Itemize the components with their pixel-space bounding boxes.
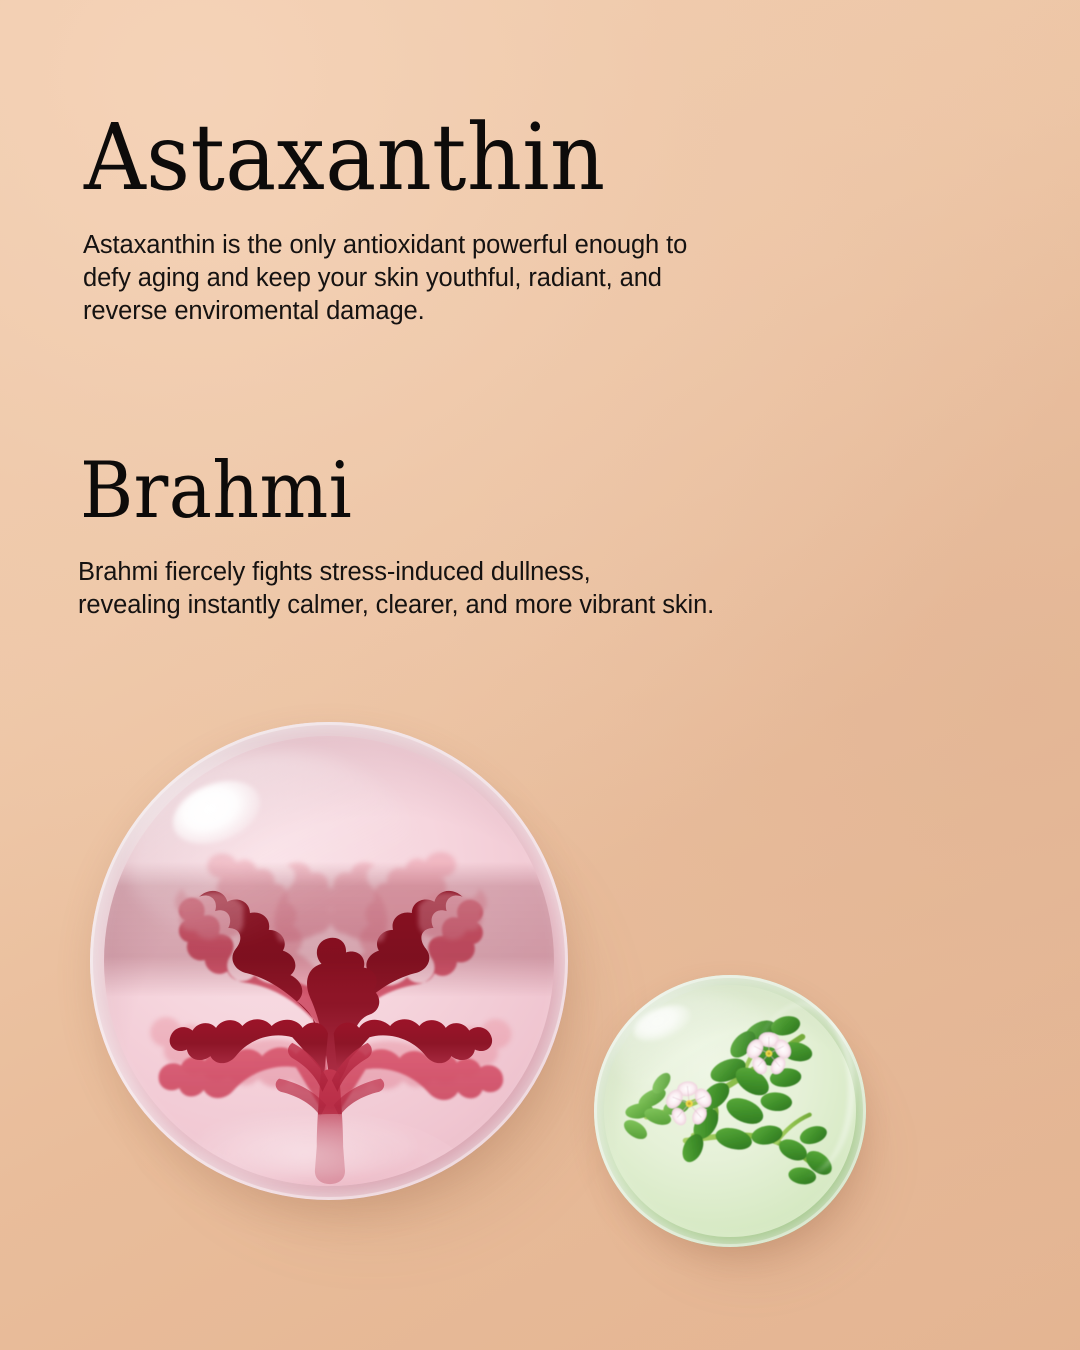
brahmi-sphere-interior <box>604 985 856 1237</box>
astaxanthin-sphere-interior <box>104 736 554 1186</box>
brahmi-plant-illustration <box>604 985 856 1237</box>
page-title-brahmi: Brahmi <box>80 452 352 530</box>
submersion-band <box>104 862 554 997</box>
description-brahmi: Brahmi fiercely fights stress-induced du… <box>78 556 978 622</box>
description-astaxanthin: Astaxanthin is the only antioxidant powe… <box>83 229 943 328</box>
brahmi-sphere <box>594 975 866 1247</box>
astaxanthin-sphere <box>90 722 568 1200</box>
ingredient-infographic-canvas: Astaxanthin Astaxanthin is the only anti… <box>0 0 1080 1350</box>
page-title-astaxanthin: Astaxanthin <box>84 112 606 204</box>
